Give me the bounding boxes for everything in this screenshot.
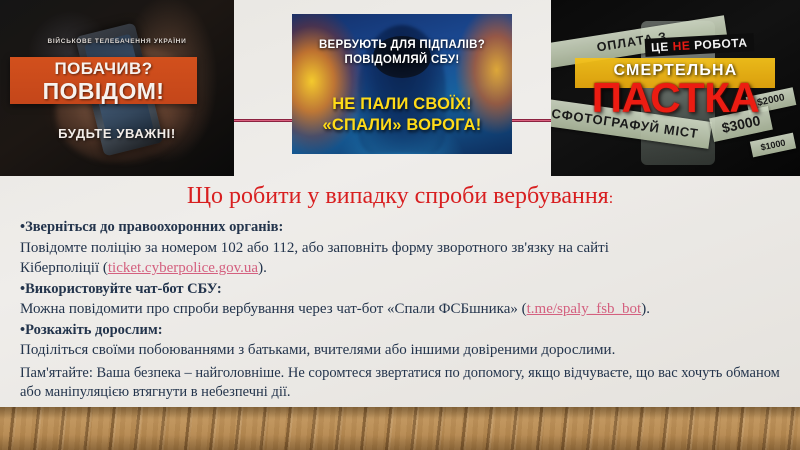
page-title-colon: :: [609, 190, 613, 207]
advice-list: •Зверніться до правоохоронних органів: П…: [0, 217, 800, 361]
list-item: •Розкажіть дорослим: Поділіться своїми п…: [20, 320, 790, 361]
bullet-heading-2: •Використовуйте чат-бот СБУ:: [20, 279, 790, 300]
bullet-heading-2-text: Використовуйте чат-бот СБУ:: [25, 281, 222, 297]
bullet-body-1-line-1: Повідомте поліцію за номером 102 або 112…: [20, 238, 790, 259]
right-image-note-amount-3: $1000: [750, 133, 796, 158]
slide-canvas: ВІЙСЬКОВЕ ТЕЛЕБАЧЕННЯ УКРАЇНИ ПОБАЧИВ? П…: [0, 0, 800, 450]
center-image-top-text: ВЕРБУЮТЬ ДЛЯ ПІДПАЛІВ? ПОВІДОМЛЯЙ СБУ!: [292, 38, 512, 67]
floor-shading: [0, 407, 800, 450]
tape-prefix: ЦЕ: [651, 39, 673, 54]
wooden-floor-decoration: [0, 407, 800, 450]
center-image-bottom-text: НЕ ПАЛИ СВОЇХ! «СПАЛИ» ВОРОГА!: [292, 94, 512, 136]
center-image-bottom-line-1: НЕ ПАЛИ СВОЇХ!: [332, 95, 472, 113]
center-image-bottom-line-2: «СПАЛИ» ВОРОГА!: [323, 116, 482, 134]
bullet-heading-3: •Розкажіть дорослим:: [20, 320, 790, 341]
link-suffix-1: ).: [258, 260, 267, 276]
telegram-bot-link[interactable]: t.me/spaly_fsb_bot: [527, 301, 642, 317]
tape-suffix: РОБОТА: [690, 35, 748, 52]
slide-content: Що робити у випадку спроби вербування: •…: [0, 176, 800, 407]
bullet-heading-3-text: Розкажіть дорослим:: [25, 322, 162, 338]
page-title-text: Що робити у випадку спроби вербування: [187, 183, 609, 209]
left-image-kicker: ВІЙСЬКОВЕ ТЕЛЕБАЧЕННЯ УКРАЇНИ: [0, 38, 234, 45]
link-prefix-2: Можна повідомити про спроби вербування ч…: [20, 301, 527, 317]
left-image-subline: БУДЬТЕ УВАЖНІ!: [0, 126, 234, 141]
bullet-body-2-line-1: Можна повідомити про спроби вербування ч…: [20, 299, 790, 320]
image-pobachiv-povidom: ВІЙСЬКОВЕ ТЕЛЕБАЧЕННЯ УКРАЇНИ ПОБАЧИВ? П…: [0, 0, 234, 176]
page-title: Що робити у випадку спроби вербування:: [0, 182, 800, 213]
bullet-body-1-line-2: Кіберполіції (ticket.cyberpolice.gov.ua)…: [20, 258, 790, 279]
list-item: •Зверніться до правоохоронних органів: П…: [20, 217, 790, 279]
bullet-heading-1-text: Зверніться до правоохоронних органів:: [25, 219, 283, 235]
list-item: •Використовуйте чат-бот СБУ: Можна повід…: [20, 279, 790, 320]
image-verbuyut-dlya-pidpaliv: ВЕРБУЮТЬ ДЛЯ ПІДПАЛІВ? ПОВІДОМЛЯЙ СБУ! Н…: [292, 14, 512, 154]
link-suffix-2: ).: [641, 301, 650, 317]
image-smertelna-pastka: ОПЛАТА З $2000 ЦЕ НЕ РОБОТА СМЕРТЕЛЬНА П…: [551, 0, 800, 176]
tape-highlight: НЕ: [672, 38, 690, 53]
bullet-body-3-line-1: Поділіться своїми побоюваннями з батькам…: [20, 340, 790, 361]
cyberpolice-link[interactable]: ticket.cyberpolice.gov.ua: [108, 260, 258, 276]
left-image-headline-1: ПОБАЧИВ?: [10, 59, 197, 79]
closing-paragraph: Пам'ятайте: Ваша безпека – найголовніше.…: [0, 364, 800, 403]
left-image-headline-2: ПОВІДОМ!: [10, 78, 197, 105]
bullet-heading-1: •Зверніться до правоохоронних органів:: [20, 217, 790, 238]
link-prefix-1: Кіберполіції (: [20, 260, 108, 276]
right-image-headline-2: ПАСТКА: [551, 74, 800, 122]
